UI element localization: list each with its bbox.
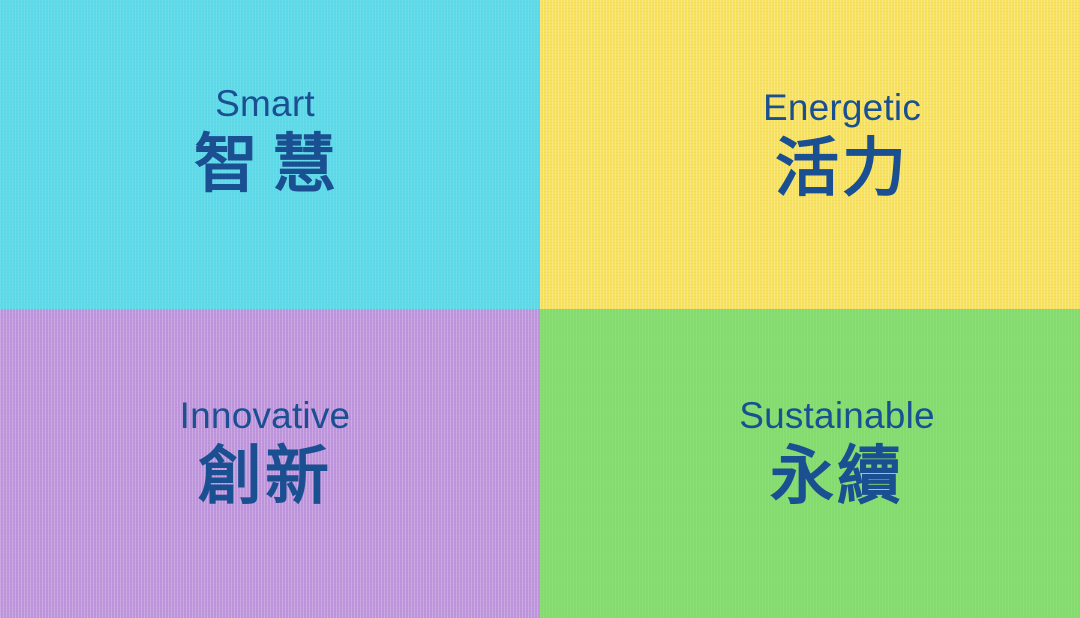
- quadrant-innovative-chinese-label: 創新: [198, 443, 332, 512]
- quadrant-energetic-english-label: Energetic: [763, 89, 921, 128]
- label-stack-smart: Smart 智慧: [180, 85, 350, 201]
- quadrant-innovative-english-label: Innovative: [180, 397, 351, 436]
- label-stack-energetic: Energetic 活力: [763, 89, 921, 205]
- quadrant-sustainable-english-label: Sustainable: [739, 397, 935, 436]
- quadrant-sustainable-chinese-label: 永續: [770, 443, 904, 512]
- quadrant-innovative: Innovative 創新: [0, 309, 540, 618]
- quadrant-energetic-chinese-label: 活力: [775, 135, 909, 204]
- quadrant-sustainable: Sustainable 永續: [540, 309, 1080, 618]
- quadrant-energetic: Energetic 活力: [540, 0, 1080, 309]
- quadrant-smart: Smart 智慧: [0, 0, 540, 309]
- quadrant-smart-english-label: Smart: [215, 85, 315, 124]
- quadrant-smart-chinese-label: 智慧: [180, 131, 350, 200]
- label-stack-sustainable: Sustainable 永續: [739, 397, 935, 513]
- label-stack-innovative: Innovative 創新: [180, 397, 351, 513]
- brand-values-grid: Smart 智慧 Energetic 活力 Innovative 創新 Sust…: [0, 0, 1080, 618]
